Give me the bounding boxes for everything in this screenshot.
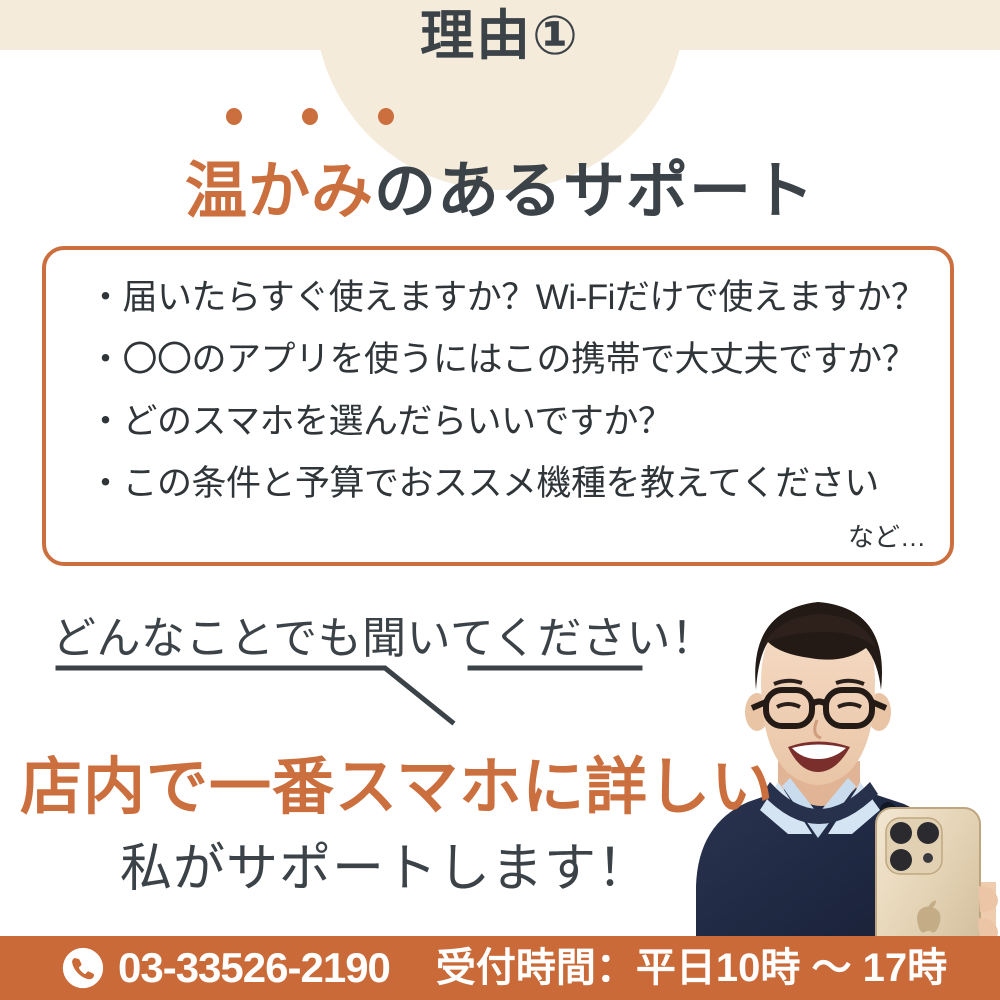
ask-anything-line: どんなことでも聞いてください！ — [52, 602, 716, 666]
main-title-rest: のあるサポート — [374, 157, 815, 226]
emphasis-dots — [226, 108, 426, 125]
emphasis-dot — [226, 108, 242, 125]
phone-icon — [62, 947, 104, 989]
footer-hours: 受付時間：平日10時 〜 17時 — [436, 948, 947, 988]
question-list: ・届いたらすぐ使えますか？Wi-Fiだけで使えますか？ ・〇〇のアプリを使うには… — [88, 280, 928, 528]
list-item: ・この条件と予算でおススメ機種を教えてください — [88, 466, 928, 501]
list-item: ・〇〇のアプリを使うにはこの携帯で大丈夫ですか？ — [88, 342, 928, 377]
main-title: 温かみのあるサポート — [0, 140, 1000, 230]
etcetera-label: など… — [848, 517, 926, 554]
emphasis-dot — [302, 108, 318, 125]
main-title-accent: 温かみ — [185, 157, 374, 226]
list-item: ・どのスマホを選んだらいいですか？ — [88, 404, 928, 439]
list-item: ・届いたらすぐ使えますか？Wi-Fiだけで使えますか？ — [88, 280, 928, 315]
closing-headline: 店内で一番スマホに詳しい — [20, 736, 774, 826]
footer-bar: 03-33526-2190 受付時間：平日10時 〜 17時 — [0, 936, 1000, 1000]
speech-bubble-underline-icon — [40, 658, 660, 728]
footer-phone-number[interactable]: 03-33526-2190 — [118, 947, 390, 989]
closing-subline: 私がサポートします！ — [120, 826, 650, 901]
header-title: 理由① — [0, 8, 1000, 65]
footer-content: 03-33526-2190 受付時間：平日10時 〜 17時 — [0, 947, 1000, 989]
question-box: ・届いたらすぐ使えますか？Wi-Fiだけで使えますか？ ・〇〇のアプリを使うには… — [42, 246, 954, 566]
emphasis-dot — [378, 108, 394, 125]
poster-root: 理由① 温かみのあるサポート ・届いたらすぐ使えますか？Wi-Fiだけで使えます… — [0, 0, 1000, 1000]
